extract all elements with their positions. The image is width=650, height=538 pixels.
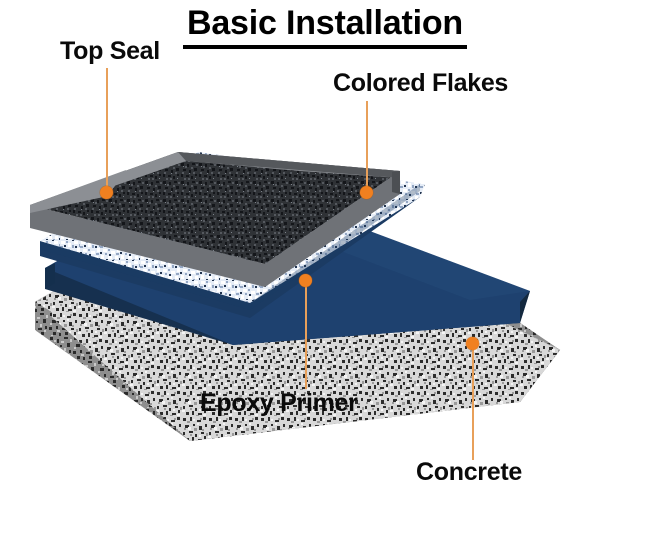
callout-dot-concrete[interactable] bbox=[466, 337, 479, 350]
leader-line-top-seal bbox=[106, 68, 108, 194]
callout-dot-epoxy-primer[interactable] bbox=[299, 274, 312, 287]
label-epoxy-primer: Epoxy Primer bbox=[200, 389, 358, 418]
leader-line-colored-flakes bbox=[366, 101, 368, 194]
top-seal-right-edge bbox=[392, 171, 400, 194]
layer-stack-illustration bbox=[0, 0, 650, 538]
callout-dot-colored-flakes[interactable] bbox=[360, 186, 373, 199]
callout-dot-top-seal[interactable] bbox=[100, 186, 113, 199]
label-top-seal: Top Seal bbox=[60, 37, 160, 66]
leader-line-epoxy-primer bbox=[305, 281, 307, 389]
diagram-canvas: Basic Installation bbox=[0, 0, 650, 538]
label-concrete: Concrete bbox=[416, 458, 522, 487]
leader-line-concrete bbox=[472, 344, 474, 460]
label-colored-flakes: Colored Flakes bbox=[333, 69, 508, 98]
